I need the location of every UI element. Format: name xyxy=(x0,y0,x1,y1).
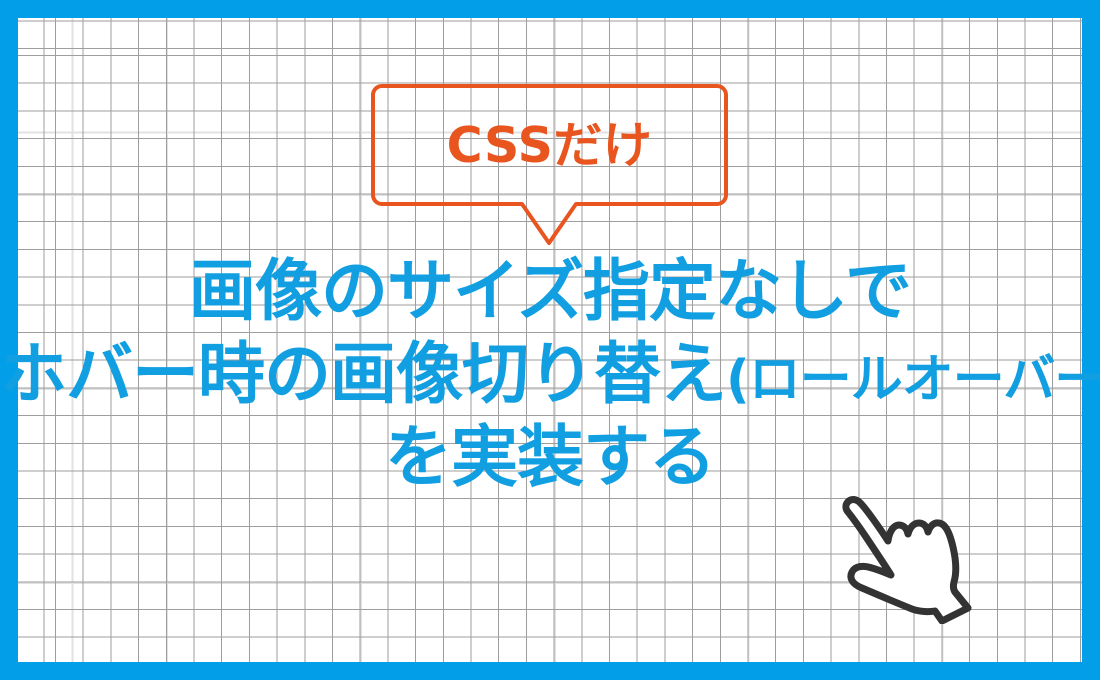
pointing-hand-cursor-icon xyxy=(836,492,976,624)
headline-line-2-main: ホバー時の画像切り替え xyxy=(0,335,726,413)
headline-block: 画像のサイズ指定なしで ホバー時の画像切り替え(ロールオーバー) を実装する xyxy=(0,258,1100,491)
headline-line-2-parenthetical: (ロールオーバー) xyxy=(726,350,1100,410)
pointing-hand-cursor-glyph xyxy=(836,492,976,624)
eyecatch-image: CSSだけ 画像のサイズ指定なしで ホバー時の画像切り替え(ロールオーバー) を… xyxy=(0,0,1100,680)
headline-line-1: 画像のサイズ指定なしで xyxy=(0,258,1100,325)
headline-line-3: を実装する xyxy=(0,424,1100,491)
headline-line-2: ホバー時の画像切り替え(ロールオーバー) xyxy=(0,341,1100,408)
